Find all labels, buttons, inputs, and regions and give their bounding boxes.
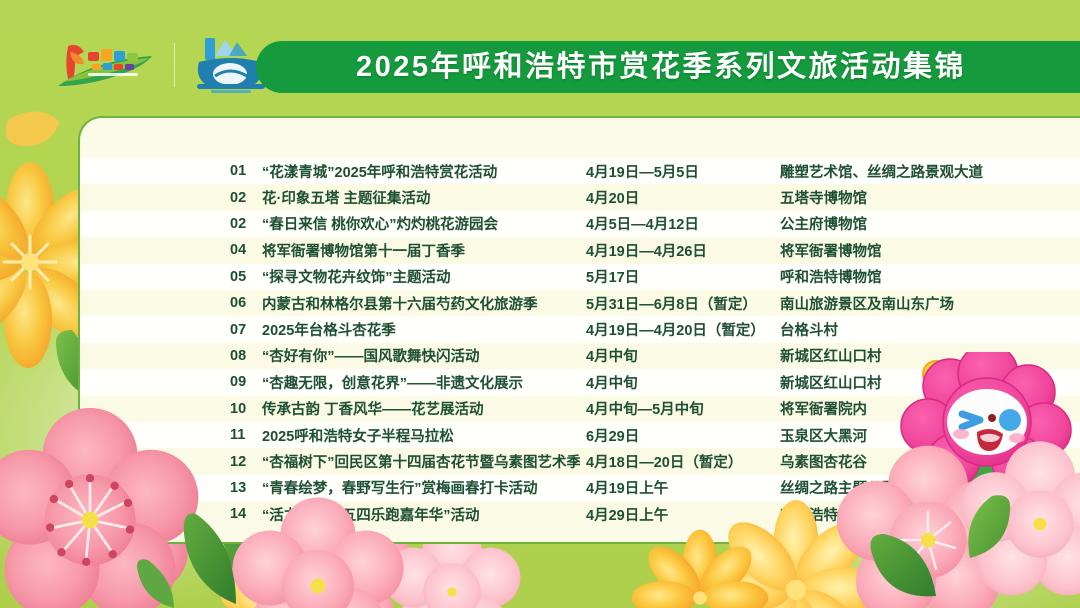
activity-date: 4月19日—4月20日（暂定） <box>586 319 782 340</box>
activity-name: “活力赛罕，五四乐跑嘉年华”活动 <box>262 504 480 525</box>
row-index: 10 <box>230 401 262 417</box>
activity-name: 传承古韵 丁香风华——花艺展活动 <box>262 398 484 419</box>
activity-name: 2025呼和浩特女子半程马拉松 <box>262 425 454 446</box>
table-row[interactable]: 04 将军衙署博物馆第十一届丁香季 4月19日—4月26日 将军衙署博物馆 <box>80 237 1080 263</box>
activity-name: 将军衙署博物馆第十一届丁香季 <box>262 240 465 261</box>
activity-date: 4月19日—5月5日 <box>586 161 782 182</box>
activity-location: 将军衙署院内 <box>780 398 867 419</box>
page-title: 2025年呼和浩特市赏花季系列文旅活动集锦 <box>356 53 966 82</box>
activity-date: 4月19日—4月26日 <box>586 240 782 261</box>
activity-location: 呼和浩特博物馆 <box>780 266 882 287</box>
title-banner: 2025年呼和浩特市赏花季系列文旅活动集锦 <box>256 41 1080 93</box>
activity-date: 4月中旬 <box>586 372 782 393</box>
activity-date: 4月5日—4月12日 <box>586 213 782 234</box>
activity-date: 4月中旬—5月中旬 <box>586 398 782 419</box>
activity-name: “杏福树下”回民区第十四届杏花节暨乌素图艺术季 <box>262 451 580 472</box>
activity-location: 乌素图杏花谷 <box>780 451 867 472</box>
activity-date: 4月20日 <box>586 187 782 208</box>
activity-date: 4月中旬 <box>586 345 782 366</box>
activity-name: “青春绘梦，春野写生行”赏梅画春打卡活动 <box>262 477 538 498</box>
activity-date: 6月29日 <box>586 425 782 446</box>
logo-group <box>52 34 273 96</box>
activity-location: 玉泉区大黑河 <box>780 425 867 446</box>
table-row[interactable]: 05 “探寻文物花卉纹饰”主题活动 5月17日 呼和浩特博物馆 <box>80 264 1080 290</box>
table-row[interactable]: 02 “春日来信 桃你欢心”灼灼桃花游园会 4月5日—4月12日 公主府博物馆 <box>80 211 1080 237</box>
blue-eye <box>999 409 1021 431</box>
row-index: 06 <box>230 295 262 311</box>
activity-date: 5月31日—6月8日（暂定） <box>586 293 782 314</box>
row-index: 12 <box>230 454 262 470</box>
row-index: 05 <box>230 269 262 285</box>
activity-location: 丝绸之路主题公园 <box>780 477 896 498</box>
logo-divider <box>174 43 175 87</box>
activity-name: “花漾青城”2025年呼和浩特赏花活动 <box>262 161 497 182</box>
activity-name: “杏好有你”——国风歌舞快闪活动 <box>262 345 480 366</box>
row-index: 04 <box>230 242 262 258</box>
row-index: 13 <box>230 480 262 496</box>
row-index: 09 <box>230 374 262 390</box>
activity-location: 将军衙署博物馆 <box>780 240 882 261</box>
activity-location: 南山旅游景区及南山东广场 <box>780 293 954 314</box>
poster-header: 2025年呼和浩特市赏花季系列文旅活动集锦 <box>0 0 1080 118</box>
activity-name: “春日来信 桃你欢心”灼灼桃花游园会 <box>262 213 498 234</box>
activity-location: 新城区红山口村 <box>780 372 882 393</box>
activity-location: 新城区红山口村 <box>780 345 882 366</box>
row-index: 02 <box>230 216 262 232</box>
activity-name: 花·印象五塔 主题征集活动 <box>262 187 430 208</box>
row-index: 07 <box>230 322 262 338</box>
table-row[interactable]: 01 “花漾青城”2025年呼和浩特赏花活动 4月19日—5月5日 雕塑艺术馆、… <box>80 158 1080 184</box>
activity-name: “探寻文物花卉纹饰”主题活动 <box>262 266 451 287</box>
activity-date: 4月19日上午 <box>586 477 782 498</box>
activity-location: 五塔寺博物馆 <box>780 187 867 208</box>
activity-name: “杏趣无限，创意花界”——非遗文化展示 <box>262 372 523 393</box>
row-index: 11 <box>230 427 262 443</box>
activity-name: 内蒙古和林格尔县第十六届芍药文化旅游季 <box>262 293 538 314</box>
table-row[interactable]: 07 2025年台格斗杏花季 4月19日—4月20日（暂定） 台格斗村 <box>80 316 1080 342</box>
activity-date: 5月17日 <box>586 266 782 287</box>
activity-location: 公主府博物馆 <box>780 213 867 234</box>
activity-location: 雕塑艺术馆、丝绸之路景观大道 <box>780 161 983 182</box>
activity-location: 台格斗村 <box>780 319 838 340</box>
activity-date: 4月29日上午 <box>586 504 782 525</box>
table-row[interactable]: 06 内蒙古和林格尔县第十六届芍药文化旅游季 5月31日—6月8日（暂定） 南山… <box>80 290 1080 316</box>
poster-canvas: 2025年呼和浩特市赏花季系列文旅活动集锦 01 “花漾青城”2025年呼和浩特… <box>0 0 1080 608</box>
row-index: 14 <box>230 506 262 522</box>
row-index: 08 <box>230 348 262 364</box>
row-index: 02 <box>230 190 262 206</box>
flower-mascot <box>888 352 1078 562</box>
qingcheng-tourism-logo <box>52 36 160 94</box>
activity-name: 2025年台格斗杏花季 <box>262 319 396 340</box>
table-row[interactable]: 02 花·印象五塔 主题征集活动 4月20日 五塔寺博物馆 <box>80 184 1080 210</box>
activity-date: 4月18日—20日（暂定） <box>586 451 782 472</box>
row-index: 01 <box>230 163 262 179</box>
